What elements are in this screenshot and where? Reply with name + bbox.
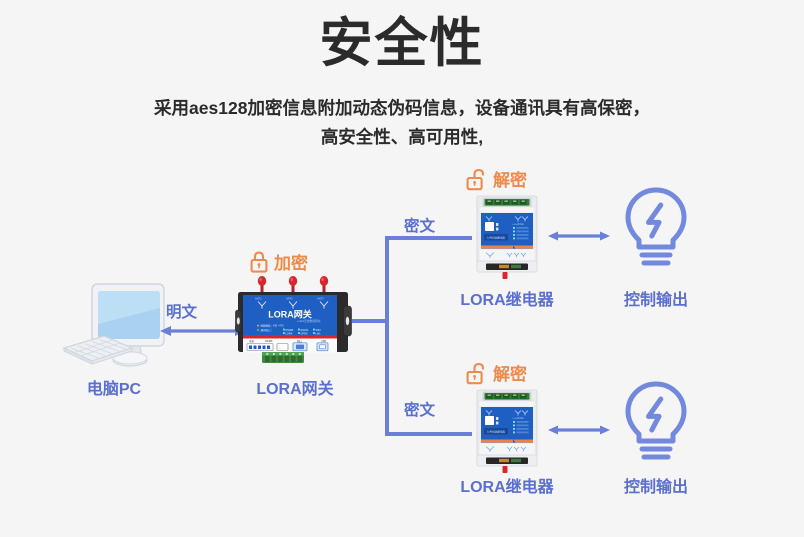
output-bottom-label: 控制输出: [600, 473, 712, 497]
lora-relay-device-icon: LoRa继电器 LoRa无线继电器: [473, 388, 541, 474]
output-top-label: 控制输出: [600, 286, 712, 310]
subtitle-line-2: 高安全性、高可用性,: [62, 123, 742, 152]
svg-text:+ -: + -: [279, 348, 282, 350]
relay-top-decrypt-label: 解密: [493, 166, 527, 191]
pc-label: 电脑PC: [58, 375, 170, 399]
branch-to-relay-bottom: [385, 432, 472, 436]
svg-text:电源: 电源: [249, 339, 254, 343]
output-top-node: [618, 184, 694, 276]
flow-label-ciphertext-top: 密文: [404, 214, 435, 236]
gateway-node: ANT1 ANT2 ANT3 LORA网关 LoRa无线数据网关 射频频段：43…: [235, 276, 355, 368]
relay-top-label: LORA继电器: [446, 286, 568, 310]
arrow-pc-to-gateway: [160, 322, 246, 340]
diagram-canvas: 安全性 采用aes128加密信息附加动态伪码信息，设备通讯具有高保密， 高安全性…: [0, 0, 804, 537]
pc-node: [58, 278, 170, 378]
branch-to-relay-top: [385, 236, 472, 240]
relay-bottom-decrypt-badge: 解密: [466, 360, 527, 385]
lightbulb-lightning-icon: [618, 184, 694, 276]
arrow-relay-bottom-to-output: [548, 421, 610, 439]
page-title: 安全性: [0, 14, 804, 75]
relay-top-decrypt-badge: 解密: [466, 166, 527, 191]
svg-text:LoRa无线继电器: LoRa无线继电器: [487, 429, 505, 433]
svg-text:RS232: RS232: [301, 329, 309, 332]
page-subtitle: 采用aes128加密信息附加动态伪码信息，设备通讯具有高保密， 高安全性、高可用…: [62, 94, 742, 152]
branch-trunk-vertical: [385, 236, 389, 436]
open-padlock-icon: [466, 361, 488, 385]
svg-text:RS485: RS485: [286, 329, 294, 332]
open-padlock-icon: [466, 167, 488, 191]
svg-text:射频频段：433 / 470: 射频频段：433 / 470: [261, 324, 285, 328]
relay-bottom-label: LORA继电器: [446, 473, 568, 497]
svg-text:LoRa无线数据网关: LoRa无线数据网关: [297, 319, 321, 323]
svg-text:通讯接口：: 通讯接口：: [261, 328, 274, 332]
svg-text:ANT3: ANT3: [317, 297, 324, 301]
gateway-label: LORA网关: [232, 375, 358, 399]
desktop-computer-icon: [58, 278, 170, 378]
svg-text:LORA网关: LORA网关: [268, 309, 312, 320]
relay-bottom-decrypt-label: 解密: [493, 360, 527, 385]
svg-text:ANT2: ANT2: [286, 297, 293, 301]
svg-text:WIFI: WIFI: [316, 329, 322, 332]
gateway-encrypt-label: 加密: [274, 249, 308, 274]
svg-text:RS485: RS485: [265, 340, 273, 343]
flow-label-ciphertext-bottom: 密文: [404, 398, 435, 420]
svg-text:ANT1: ANT1: [255, 297, 262, 301]
subtitle-line-1: 采用aes128加密信息附加动态伪码信息，设备通讯具有高保密，: [62, 94, 742, 123]
branch-stem: [352, 319, 388, 323]
arrow-relay-top-to-output: [548, 227, 610, 245]
output-bottom-node: [618, 378, 694, 470]
relay-top-node: LoRa继电器 LoRa无线继电器: [473, 194, 541, 280]
svg-text:网口: 网口: [297, 339, 302, 343]
relay-bottom-node: LoRa继电器 LoRa无线继电器: [473, 388, 541, 474]
closed-padlock-icon: [249, 250, 269, 274]
svg-text:LoRa无线继电器: LoRa无线继电器: [487, 235, 505, 239]
flow-label-plaintext: 明文: [166, 300, 197, 322]
lightbulb-lightning-icon: [618, 378, 694, 470]
lora-gateway-device-icon: ANT1 ANT2 ANT3 LORA网关 LoRa无线数据网关 射频频段：43…: [235, 276, 355, 368]
gateway-encrypt-badge: 加密: [249, 249, 308, 274]
lora-relay-device-icon: LoRa继电器 LoRa无线继电器: [473, 194, 541, 280]
